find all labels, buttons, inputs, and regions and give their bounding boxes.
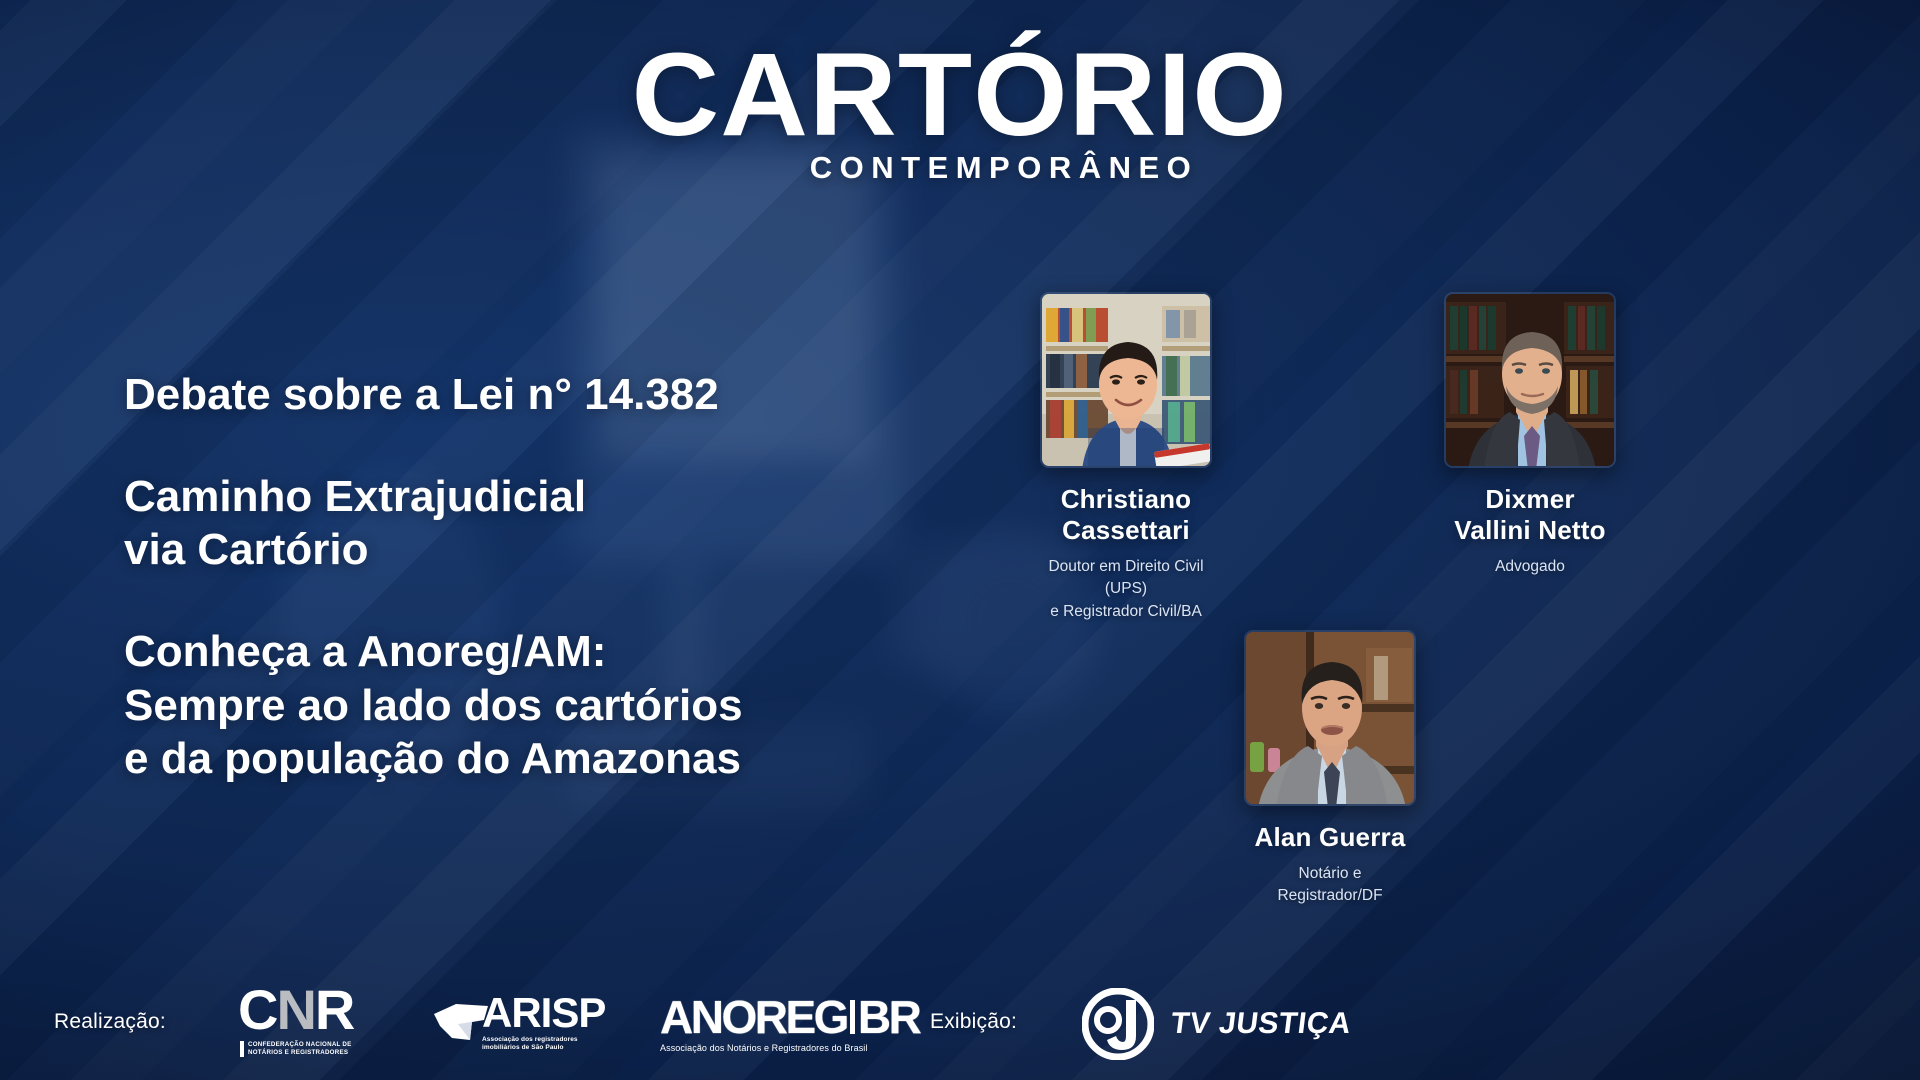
arisp-wordmark: ARISP (482, 992, 605, 1034)
cnr-tagline-text: CONFEDERAÇÃO NACIONAL DE NOTÁRIOS E REGI… (248, 1041, 352, 1057)
speaker-role-line: Advogado (1444, 556, 1616, 578)
sponsor-logo-cnr[interactable]: CNR CONFEDERAÇÃO NACIONAL DE NOTÁRIOS E … (238, 982, 353, 1057)
speaker-role: Advogado (1444, 556, 1616, 578)
realizacao-label: Realização: (54, 1010, 166, 1034)
headline-line: Caminho Extrajudicial (124, 470, 743, 524)
speaker-role-line: e Registrador Civil/BA (1040, 601, 1212, 623)
anoreg-tagline: Associação dos Notários e Registradores … (660, 1043, 919, 1053)
cnr-letter-c: C (238, 982, 276, 1038)
headline-line: Conheça a Anoreg/AM: (124, 625, 743, 679)
headline-line: e da população do Amazonas (124, 732, 743, 786)
speaker-photo (1444, 292, 1616, 468)
anoreg-word-right: BR (858, 994, 919, 1040)
broadcast-slide: CARTÓRIO CONTEMPORÂNEO Debate sobre a Le… (0, 0, 1920, 1080)
tv-justica-circle-j-icon (1082, 988, 1154, 1060)
exibicao-label: Exibição: (930, 1010, 1017, 1034)
headline-line: via Cartório (124, 523, 743, 577)
speaker-card: Alan Guerra Notário e Registrador/DF (1244, 630, 1416, 908)
speaker-name: Christiano Cassettari (1040, 484, 1212, 546)
tv-justica-wordmark: TV JUSTIÇA (1169, 1007, 1353, 1041)
headline-block: Debate sobre a Lei n° 14.382 Caminho Ext… (124, 368, 743, 786)
speaker-photo (1244, 630, 1416, 806)
footer-bar: Realização: CNR CONFEDERAÇÃO NACIONAL DE… (0, 960, 1920, 1080)
cnr-wordmark: CNR (238, 982, 353, 1038)
headline-line: Debate sobre a Lei n° 14.382 (124, 368, 743, 422)
arisp-state-mark-icon (432, 1000, 490, 1044)
arisp-tagline: Associação dos registradores imobiliário… (482, 1036, 605, 1053)
headline-paragraph: Caminho Extrajudicial via Cartório (124, 470, 743, 577)
speaker-photo (1040, 292, 1212, 468)
speaker-role: Doutor em Direito Civil (UPS) e Registra… (1040, 556, 1212, 623)
anoreg-wordmark: ANOREG BR (660, 994, 919, 1040)
brand-logo-sub: CONTEMPORÂNEO (88, 150, 1920, 186)
headline-paragraph: Conheça a Anoreg/AM: Sempre ao lado dos … (124, 625, 743, 786)
speaker-card: Dixmer Vallini Netto Advogado (1444, 292, 1616, 578)
sponsor-logo-arisp[interactable]: ARISP Associação dos registradores imobi… (432, 992, 605, 1053)
cnr-tagline: CONFEDERAÇÃO NACIONAL DE NOTÁRIOS E REGI… (240, 1041, 353, 1057)
anoreg-divider (850, 1000, 855, 1034)
brand-logo-main: CARTÓRIO (632, 36, 1288, 154)
brand-logo: CARTÓRIO CONTEMPORÂNEO (0, 36, 1920, 186)
cnr-tagline-bar (240, 1041, 244, 1057)
headline-line: Sempre ao lado dos cartórios (124, 679, 743, 733)
broadcaster-logo-tv-justica[interactable]: TV JUSTIÇA (1082, 988, 1351, 1060)
speaker-role-line: Notário e Registrador/DF (1244, 863, 1416, 908)
speaker-name: Alan Guerra (1244, 822, 1416, 853)
arisp-text-block: ARISP Associação dos registradores imobi… (482, 992, 605, 1053)
cnr-letter-n: N (276, 982, 314, 1038)
speaker-card: Christiano Cassettari Doutor em Direito … (1040, 292, 1212, 623)
headline-paragraph: Debate sobre a Lei n° 14.382 (124, 368, 743, 422)
speaker-name: Dixmer Vallini Netto (1444, 484, 1616, 546)
speaker-role-line: Doutor em Direito Civil (UPS) (1040, 556, 1212, 601)
anoreg-word-left: ANOREG (660, 994, 847, 1040)
cnr-letter-r: R (315, 982, 353, 1038)
speaker-role: Notário e Registrador/DF (1244, 863, 1416, 908)
sponsor-logo-anoreg[interactable]: ANOREG BR Associação dos Notários e Regi… (660, 994, 919, 1053)
